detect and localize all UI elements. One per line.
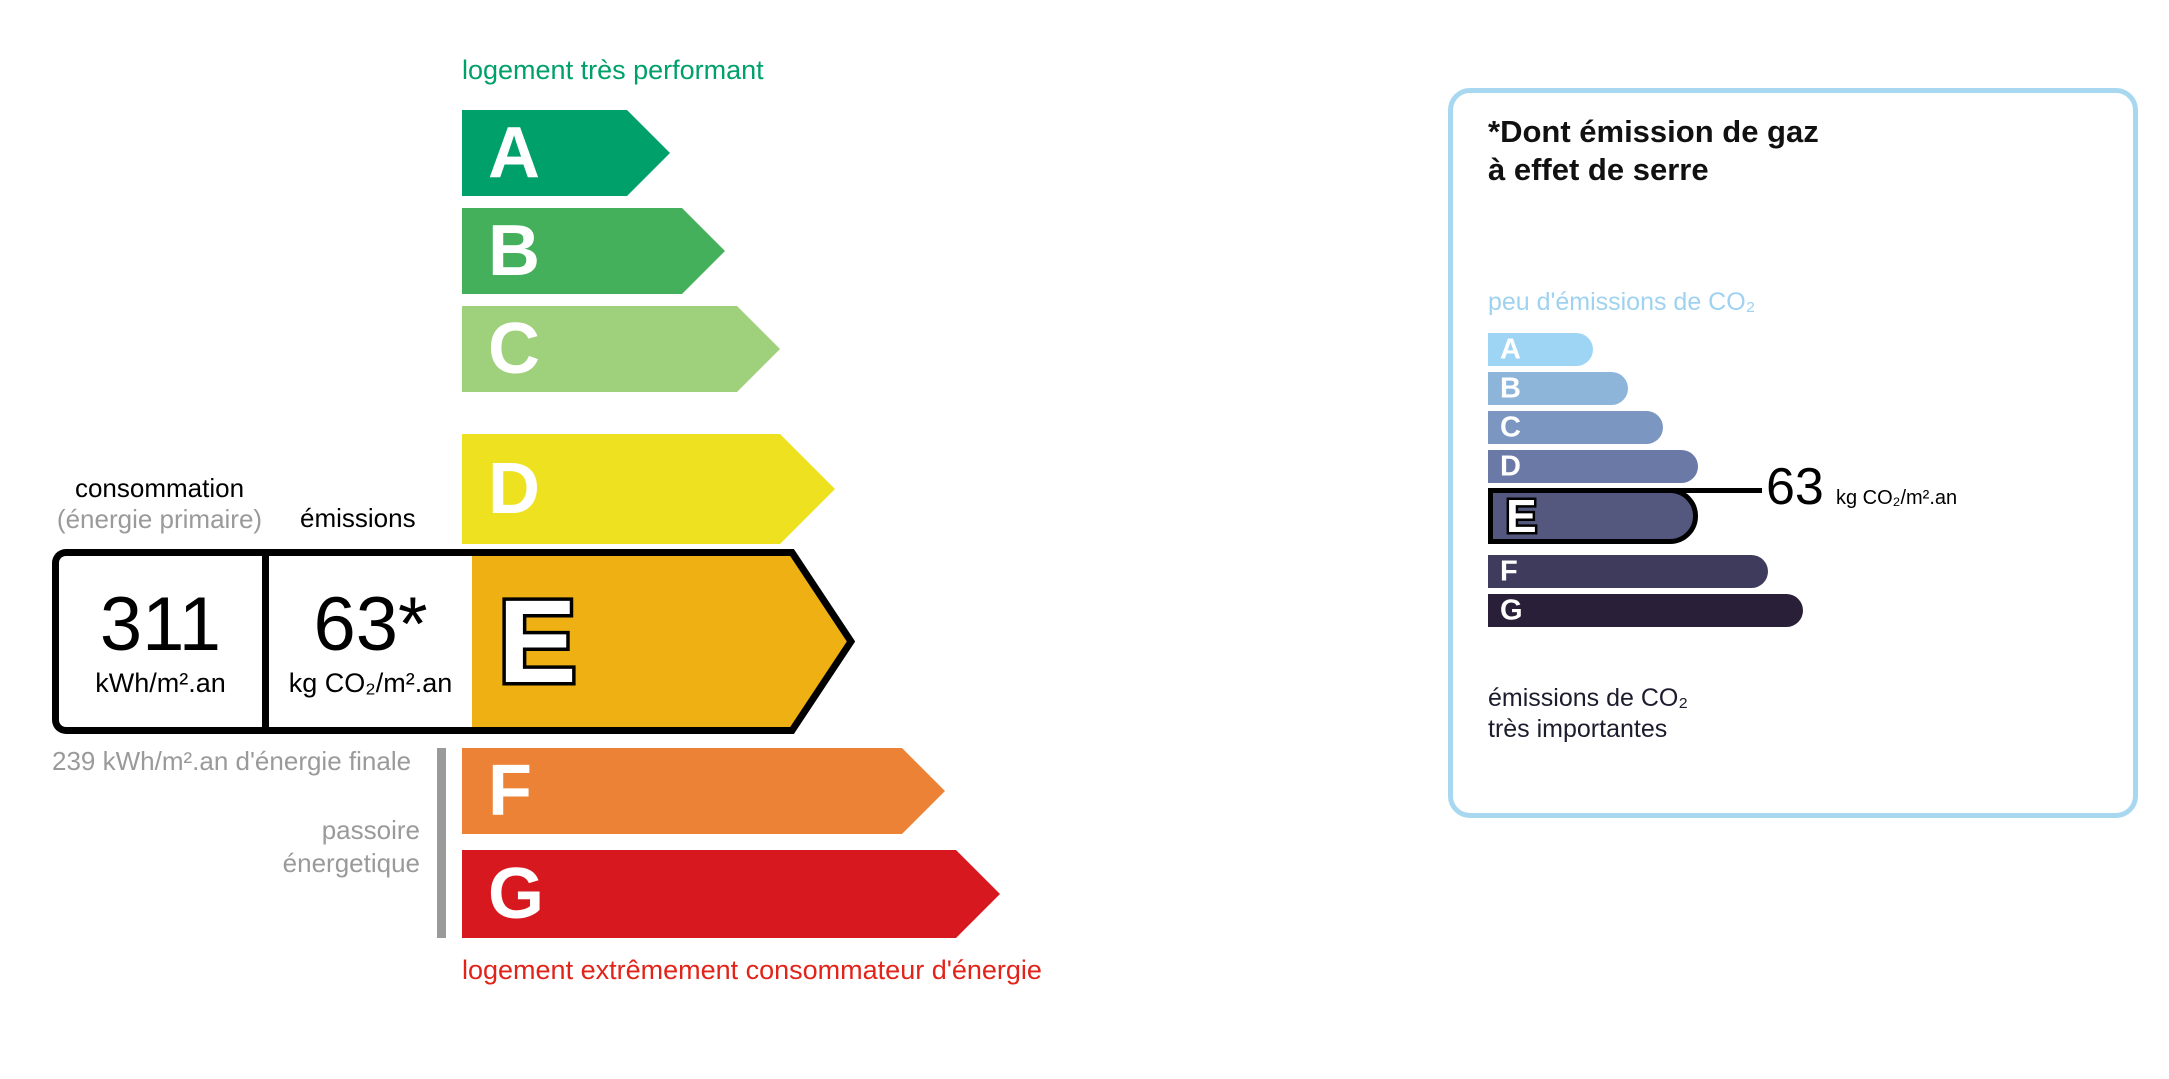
ges-grade-letter-e: E <box>1506 493 1537 539</box>
ges-bar-g <box>1488 594 1803 627</box>
energy-grade-letter-e: E <box>498 583 577 701</box>
ges-bar-f <box>1488 555 1768 588</box>
ges-grade-letter-b: B <box>1500 374 1521 403</box>
ges-panel: *Dont émission de gaz à effet de serre p… <box>1448 88 2138 818</box>
energy-top-caption: logement très performant <box>462 55 764 86</box>
emission-value: 63* <box>313 587 427 663</box>
ges-grade-letter-d: D <box>1500 452 1521 481</box>
ges-value-unit: kg CO₂/m².an <box>1836 488 1957 508</box>
emissions-header-label: émissions <box>300 503 416 534</box>
ges-grade-letter-g: G <box>1500 596 1523 625</box>
consumption-header-sub: (énergie primaire) <box>52 504 267 535</box>
ges-title: *Dont émission de gaz à effet de serre <box>1488 113 1819 189</box>
energy-grade-letter-a: A <box>488 117 540 189</box>
ges-value: 63 <box>1766 461 1824 513</box>
consumption-values-box: 311 kWh/m².an 63* kg CO₂/m².an <box>52 549 472 734</box>
passoire-indicator-bar <box>437 748 446 938</box>
ges-bottom-caption: émissions de CO₂ très importantes <box>1488 683 1688 746</box>
energy-bottom-caption: logement extrêmement consommateur d'éner… <box>462 955 1042 986</box>
energy-arrow-f <box>462 748 945 834</box>
consumption-header-main: consommation <box>75 473 244 503</box>
energy-grade-letter-c: C <box>488 313 540 385</box>
consumption-unit: kWh/m².an <box>95 670 226 697</box>
passoire-label: passoire énergetique <box>210 814 420 879</box>
ges-top-caption: peu d'émissions de CO₂ <box>1488 288 1755 317</box>
consumption-cell: 311 kWh/m².an <box>59 556 269 727</box>
consumption-value: 311 <box>100 587 221 663</box>
ges-grade-letter-c: C <box>1500 413 1521 442</box>
energy-scale-panel: logement très performant A B C D E <box>0 0 1400 1079</box>
ges-grade-letter-f: F <box>1500 557 1518 586</box>
emission-unit: kg CO₂/m².an <box>289 670 453 697</box>
consumption-header-label: consommation (énergie primaire) <box>52 473 267 535</box>
final-energy-note: 239 kWh/m².an d'énergie finale <box>52 745 411 778</box>
energy-grade-letter-f: F <box>488 755 532 827</box>
ges-leader-line <box>1668 488 1762 493</box>
energy-grade-letter-b: B <box>488 215 540 287</box>
energy-grade-letter-d: D <box>488 453 540 525</box>
ges-grade-letter-a: A <box>1500 335 1521 364</box>
emission-cell: 63* kg CO₂/m².an <box>269 556 472 727</box>
energy-grade-letter-g: G <box>488 858 544 930</box>
